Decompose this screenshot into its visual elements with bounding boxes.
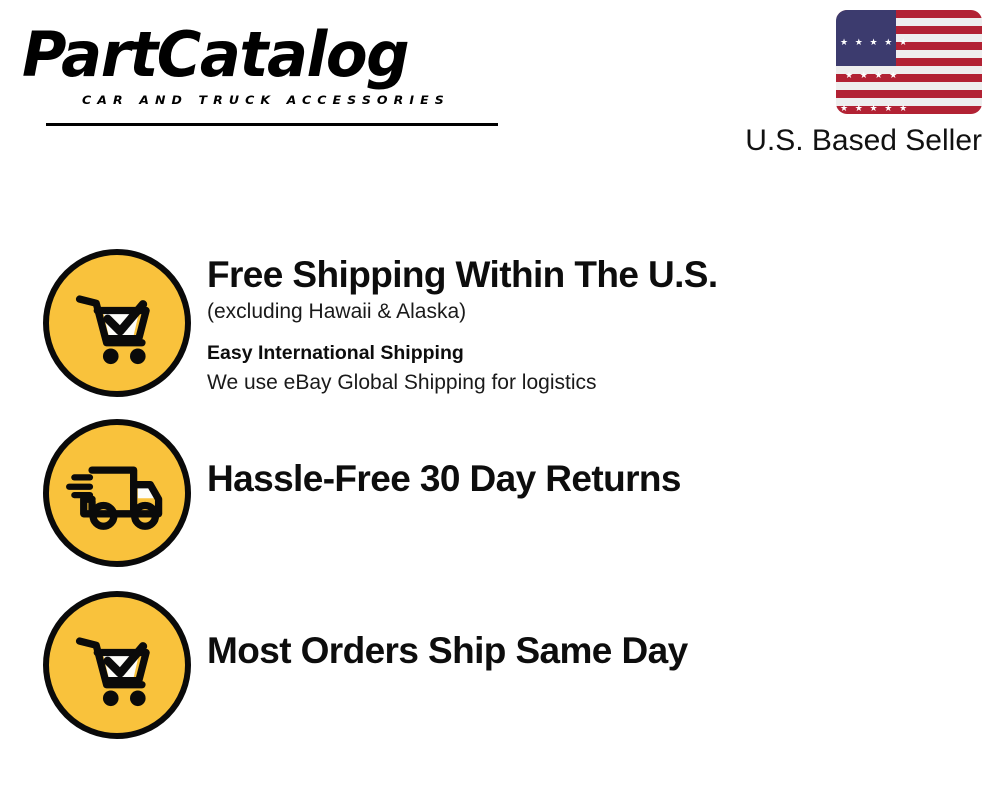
shopping-cart-check-icon [43,249,191,397]
brand-tagline: CAR AND TRUCK ACCESSORIES [82,92,450,106]
feature-subtitle: (excluding Hawaii & Alaska) [207,297,718,327]
brand-logo[interactable]: PartCatalog CAR AND TRUCK ACCESSORIES [22,22,492,112]
flag-star-row: ★ ★ ★ ★ ★ [840,103,896,114]
feature-row-free-shipping: Free Shipping Within The U.S. (excluding… [0,249,1000,397]
feature-row-returns: Hassle-Free 30 Day Returns [0,419,1000,567]
feature-sub-heading: Easy International Shipping [207,339,718,368]
us-flag-icon: ★ ★ ★ ★ ★ ★ ★ ★ ★ ★ ★ ★ ★ ★ ★ ★ ★ ★ ★ ★ … [836,10,982,114]
brand-underline-rule [46,123,498,126]
flag-star-row: ★ ★ ★ ★ [840,70,896,81]
feature-text-block: Hassle-Free 30 Day Returns [207,419,681,501]
us-based-seller-label: U.S. Based Seller [745,124,982,158]
brand-wordmark: PartCatalog [22,22,483,88]
flag-stars: ★ ★ ★ ★ ★ ★ ★ ★ ★ ★ ★ ★ ★ ★ ★ ★ ★ ★ ★ ★ … [836,10,896,66]
feature-title: Hassle-Free 30 Day Returns [207,457,681,501]
feature-text-block: Free Shipping Within The U.S. (excluding… [207,249,718,397]
shopping-cart-check-icon [43,591,191,739]
feature-title: Free Shipping Within The U.S. [207,253,718,297]
delivery-truck-icon [43,419,191,567]
feature-text-block: Most Orders Ship Same Day [207,591,688,673]
feature-row-same-day-ship: Most Orders Ship Same Day [0,591,1000,739]
flag-star-row: ★ ★ ★ ★ ★ [840,37,896,48]
page-header: PartCatalog CAR AND TRUCK ACCESSORIES ★ … [0,0,1000,170]
us-based-seller-badge: ★ ★ ★ ★ ★ ★ ★ ★ ★ ★ ★ ★ ★ ★ ★ ★ ★ ★ ★ ★ … [836,10,982,114]
feature-title: Most Orders Ship Same Day [207,629,688,673]
feature-sub-note: We use eBay Global Shipping for logistic… [207,368,718,397]
